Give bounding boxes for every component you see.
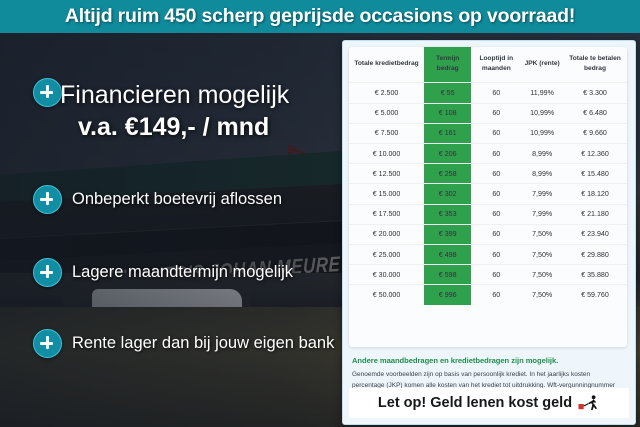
plus-icon (33, 185, 62, 214)
table-cell: € 7.500 (349, 123, 424, 143)
table-cell: 8,99% (521, 164, 563, 184)
hero-line-1: Financieren mogelijk (60, 81, 289, 110)
table-cell: € 3.300 (563, 83, 627, 103)
table-column-header: JPK (rente) (521, 47, 563, 83)
promo-banner: Altijd ruim 450 scherp geprijsde occasio… (0, 0, 640, 33)
walking-person-pulling-block-icon (578, 395, 600, 412)
table-cell: 7,50% (521, 224, 563, 244)
table-cell: € 2.500 (349, 83, 424, 103)
table-cell: 60 (471, 103, 521, 123)
table-cell: 10,99% (521, 123, 563, 143)
table-column-header: Totale kredietbedrag (349, 47, 424, 83)
table-cell: 7,99% (521, 184, 563, 204)
table-cell: € 30.000 (349, 265, 424, 285)
table-cell: € 15.480 (563, 164, 627, 184)
credit-warning-text: Let op! Geld lenen kost geld (378, 395, 572, 411)
credit-warning-bar: Let op! Geld lenen kost geld (349, 388, 629, 418)
table-cell: € 598 (424, 265, 471, 285)
table-cell: 60 (471, 244, 521, 264)
table-row: € 12.500€ 258608,99%€ 15.480 (349, 164, 627, 184)
table-row: € 25.000€ 498607,50%€ 29.880 (349, 244, 627, 264)
table-cell: € 17.500 (349, 204, 424, 224)
table-cell: 60 (471, 184, 521, 204)
table-cell: 7,50% (521, 244, 563, 264)
table-cell: € 10.000 (349, 144, 424, 164)
plus-icon (33, 329, 62, 358)
table-cell: 60 (471, 83, 521, 103)
table-row: € 2.500€ 556011,99%€ 3.300 (349, 83, 627, 103)
table-cell: € 55 (424, 83, 471, 103)
table-row: € 15.000€ 302607,99%€ 18.120 (349, 184, 627, 204)
table-cell: 10,99% (521, 103, 563, 123)
table-cell: 60 (471, 224, 521, 244)
benefit-item-financieren (33, 78, 62, 107)
table-cell: 8,99% (521, 144, 563, 164)
table-row: € 10.000€ 206608,99%€ 12.360 (349, 144, 627, 164)
plus-icon (33, 78, 62, 107)
table-cell: € 161 (424, 123, 471, 143)
table-cell: € 18.120 (563, 184, 627, 204)
table-cell: € 399 (424, 224, 471, 244)
promo-banner-text: Altijd ruim 450 scherp geprijsde occasio… (65, 5, 575, 28)
table-cell: € 29.880 (563, 244, 627, 264)
table-cell: € 9.660 (563, 123, 627, 143)
table-cell: 7,50% (521, 265, 563, 285)
table-cell: 60 (471, 123, 521, 143)
financing-rates-table: Totale kredietbedragTermijn bedragLoopti… (349, 47, 627, 305)
table-cell: € 35.880 (563, 265, 627, 285)
table-row: € 50.000€ 996607,50%€ 59.760 (349, 285, 627, 305)
table-cell: € 258 (424, 164, 471, 184)
table-row: € 7.500€ 1616010,99%€ 9.660 (349, 123, 627, 143)
table-cell: 60 (471, 204, 521, 224)
table-column-header: Totale te betalen bedrag (563, 47, 627, 83)
table-cell: € 21.180 (563, 204, 627, 224)
table-column-header: Looptijd in maanden (471, 47, 521, 83)
rates-table-container: Totale kredietbedragTermijn bedragLoopti… (349, 47, 627, 347)
table-cell: € 996 (424, 285, 471, 305)
table-cell: 60 (471, 144, 521, 164)
financing-card: Totale kredietbedragTermijn bedragLoopti… (342, 40, 636, 425)
table-cell: 11,99% (521, 83, 563, 103)
table-cell: € 353 (424, 204, 471, 224)
table-cell: € 25.000 (349, 244, 424, 264)
table-header-row: Totale kredietbedragTermijn bedragLoopti… (349, 47, 627, 83)
table-cell: € 15.000 (349, 184, 424, 204)
table-cell: € 5.000 (349, 103, 424, 123)
benefit-item-boetevrij: Onbeperkt boetevrij aflossen (33, 185, 282, 214)
table-row: € 5.000€ 1086010,99%€ 6.480 (349, 103, 627, 123)
table-body: € 2.500€ 556011,99%€ 3.300€ 5.000€ 10860… (349, 83, 627, 305)
table-row: € 20.000€ 399607,50%€ 23.940 (349, 224, 627, 244)
table-cell: 60 (471, 285, 521, 305)
table-row: € 30.000€ 598607,50%€ 35.880 (349, 265, 627, 285)
benefits-list: Financieren mogelijk v.a. €149,- / mnd O… (0, 33, 350, 427)
table-row: € 17.500€ 353607,99%€ 21.180 (349, 204, 627, 224)
table-cell: € 302 (424, 184, 471, 204)
hero-line-2: v.a. €149,- / mnd (78, 113, 269, 142)
table-cell: 60 (471, 164, 521, 184)
table-cell: 7,50% (521, 285, 563, 305)
benefit-label: Lagere maandtermijn mogelijk (72, 263, 293, 282)
benefit-item-rente: Rente lager dan bij jouw eigen bank (33, 329, 334, 358)
table-cell: € 6.480 (563, 103, 627, 123)
table-cell: € 12.360 (563, 144, 627, 164)
table-cell: € 206 (424, 144, 471, 164)
table-cell: € 498 (424, 244, 471, 264)
table-cell: € 23.940 (563, 224, 627, 244)
benefit-label: Rente lager dan bij jouw eigen bank (72, 334, 334, 353)
plus-icon (33, 258, 62, 287)
table-cell: € 59.760 (563, 285, 627, 305)
table-cell: 60 (471, 265, 521, 285)
disclaimer-title: Andere maandbedragen en kredietbedragen … (352, 356, 624, 365)
table-cell: 7,99% (521, 204, 563, 224)
table-column-header: Termijn bedrag (424, 47, 471, 83)
table-cell: € 108 (424, 103, 471, 123)
table-cell: € 20.000 (349, 224, 424, 244)
table-cell: € 50.000 (349, 285, 424, 305)
benefit-label: Onbeperkt boetevrij aflossen (72, 190, 282, 209)
table-cell: € 12.500 (349, 164, 424, 184)
benefit-item-maandtermijn: Lagere maandtermijn mogelijk (33, 258, 293, 287)
